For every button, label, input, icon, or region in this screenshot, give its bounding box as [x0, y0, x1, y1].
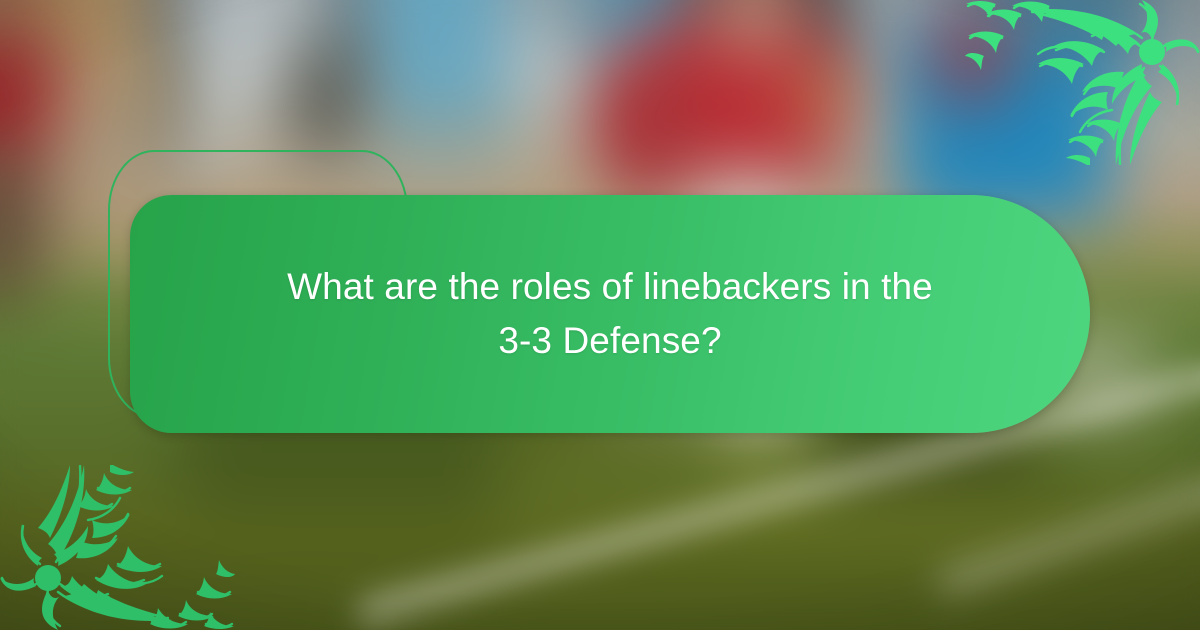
question-card-graphic: What are the roles of linebackers in the…	[0, 0, 1200, 630]
floral-filigree-corner-ornament-top-right	[965, 0, 1200, 165]
question-card: What are the roles of linebackers in the…	[130, 195, 1090, 433]
floral-filigree-corner-ornament-bottom-left	[0, 465, 235, 630]
question-text: What are the roles of linebackers in the…	[230, 260, 990, 367]
